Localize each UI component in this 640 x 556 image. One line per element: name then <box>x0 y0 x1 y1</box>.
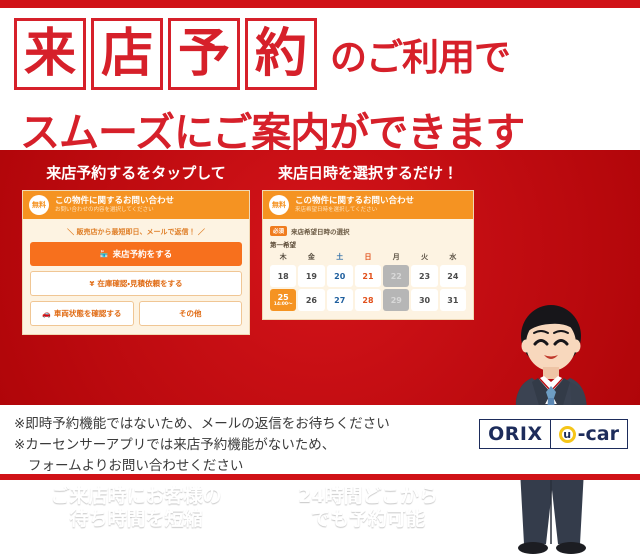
calendar-day-disabled: 29 <box>383 289 409 311</box>
calendar-day[interactable]: 23 <box>411 265 437 287</box>
bottom-red-rule <box>0 474 640 480</box>
calendar-day[interactable]: 20 <box>327 265 353 287</box>
calendar-day-selected-number: 25 <box>278 293 289 302</box>
left-panel: 来店予約するをタップして 無料 この物件に関するお問い合わせ お問い合わせの内容… <box>22 162 250 335</box>
top-red-rule <box>0 0 640 8</box>
left-mockup-header: 無料 この物件に関するお問い合わせ お問い合わせの内容を選択してください <box>23 191 249 219</box>
free-badge: 無料 <box>269 195 289 215</box>
calendar-section-label: 来店希望日時の選択 <box>291 226 350 236</box>
left-caption: ご来店時にお客様の 待ち時間を短縮 <box>10 485 262 531</box>
store-icon: 🏪 <box>100 250 109 258</box>
check-vehicle-condition-button[interactable]: 🚗 車両状態を確認する <box>30 301 134 326</box>
yen-icon: ¥ <box>90 280 95 288</box>
headline-boxed-char-2: 店 <box>91 18 163 90</box>
left-phone-mockup: 無料 この物件に関するお問い合わせ お問い合わせの内容を選択してください ＼ 販… <box>22 190 250 335</box>
headline-boxed-char-3: 予 <box>168 18 240 90</box>
calendar-day[interactable]: 30 <box>411 289 437 311</box>
left-mockup-header-title: この物件に関するお問い合わせ <box>55 196 174 207</box>
headline-row-1: 来 店 予 約 のご利用で <box>14 18 510 90</box>
other-button[interactable]: その他 <box>139 301 243 326</box>
day-header-thu: 木 <box>270 252 296 263</box>
calendar-day[interactable]: 27 <box>327 289 353 311</box>
right-mockup-header-subtitle: 来店希望日時を選択してください <box>295 207 414 214</box>
left-caption-line-1: ご来店時にお客様の <box>10 485 262 508</box>
right-mockup-header: 無料 この物件に関するお問い合わせ 来店希望日時を選択してください <box>263 191 473 219</box>
ucar-car-text: -car <box>578 423 619 445</box>
calendar-section-header: 必須 来店希望日時の選択 <box>270 226 466 236</box>
preference-label: 第一希望 <box>270 239 466 249</box>
footnote-line-2: ※カーセンサーアプリでは来店予約機能がないため、 <box>14 435 464 456</box>
right-mockup-header-text: この物件に関するお問い合わせ 来店希望日時を選択してください <box>295 196 414 214</box>
day-header-sun: 日 <box>355 252 381 263</box>
right-mockup-header-title: この物件に関するお問い合わせ <box>295 196 414 207</box>
headline-boxed-char-1: 来 <box>14 18 86 90</box>
other-button-label: その他 <box>179 308 202 319</box>
day-header-sat: 土 <box>327 252 353 263</box>
orix-brand-text: ORIX <box>488 423 550 445</box>
day-header-fri: 金 <box>298 252 324 263</box>
right-caption-line-2: でも予約可能 <box>262 508 474 531</box>
reserve-visit-button-label: 来店予約をする <box>113 248 173 260</box>
right-panel: 来店日時を選択するだけ！ 無料 この物件に関するお問い合わせ 来店希望日時を選択… <box>262 162 474 320</box>
left-mockup-header-text: この物件に関するお問い合わせ お問い合わせの内容を選択してください <box>55 196 174 214</box>
day-header-tue: 火 <box>411 252 437 263</box>
orix-ucar-logo: ORIX u -car <box>479 419 628 449</box>
stock-quote-button[interactable]: ¥ 在庫確認・見積依頼をする <box>30 271 242 296</box>
right-caption: 24時間どこから でも予約可能 <box>262 485 474 531</box>
car-icon: 🚗 <box>42 310 51 318</box>
headline-tail-text: のご利用で <box>330 27 510 81</box>
check-vehicle-condition-label: 車両状態を確認する <box>54 308 122 319</box>
right-mockup-body: 必須 来店希望日時の選択 第一希望 木 金 土 日 月 火 水 18 19 <box>263 219 473 319</box>
calendar-day[interactable]: 26 <box>298 289 324 311</box>
left-mockup-header-subtitle: お問い合わせの内容を選択してください <box>55 207 174 214</box>
calendar-day-selected[interactable]: 25 14:00〜 <box>270 289 296 311</box>
stock-quote-button-label: 在庫確認・見積依頼をする <box>97 278 182 289</box>
headline-section: 来 店 予 約 のご利用で スムーズにご案内ができます <box>0 8 640 150</box>
free-badge: 無料 <box>29 195 49 215</box>
left-mockup-lead-text: ＼ 販売店から最短即日、メールで返信！ ／ <box>30 227 242 237</box>
calendar-day[interactable]: 28 <box>355 289 381 311</box>
right-phone-mockup: 無料 この物件に関するお問い合わせ 来店希望日時を選択してください 必須 来店希… <box>262 190 474 320</box>
advertisement-banner: 来 店 予 約 のご利用で スムーズにご案内ができます 来店予約するをタップして… <box>0 0 640 480</box>
calendar-day[interactable]: 31 <box>440 289 466 311</box>
right-panel-title: 来店日時を選択するだけ！ <box>262 162 474 183</box>
reserve-visit-button[interactable]: 🏪 来店予約をする <box>30 242 242 266</box>
left-panel-title: 来店予約するをタップして <box>22 162 250 183</box>
calendar-day-disabled: 22 <box>383 265 409 287</box>
footer-section: ※即時予約機能ではないため、メールの返信をお待ちください ※カーセンサーアプリで… <box>0 405 640 480</box>
calendar-day[interactable]: 24 <box>440 265 466 287</box>
footnote-line-1: ※即時予約機能ではないため、メールの返信をお待ちください <box>14 414 464 435</box>
calendar-grid[interactable]: 木 金 土 日 月 火 水 18 19 20 21 22 23 24 <box>270 252 466 311</box>
calendar-day[interactable]: 18 <box>270 265 296 287</box>
headline-boxed-char-4: 約 <box>245 18 317 90</box>
left-mockup-body: ＼ 販売店から最短即日、メールで返信！ ／ 🏪 来店予約をする ¥ 在庫確認・見… <box>23 219 249 334</box>
ucar-logo-group: u -car <box>550 420 627 448</box>
left-mockup-button-row: 🚗 車両状態を確認する その他 <box>30 301 242 326</box>
left-caption-line-2: 待ち時間を短縮 <box>10 508 262 531</box>
day-header-wed: 水 <box>440 252 466 263</box>
calendar-day[interactable]: 21 <box>355 265 381 287</box>
day-header-mon: 月 <box>383 252 409 263</box>
footnotes: ※即時予約機能ではないため、メールの返信をお待ちください ※カーセンサーアプリで… <box>14 414 464 477</box>
required-tag: 必須 <box>270 226 287 236</box>
calendar-day[interactable]: 19 <box>298 265 324 287</box>
calendar-day-selected-time: 14:00〜 <box>274 303 293 308</box>
right-caption-line-1: 24時間どこから <box>262 485 474 508</box>
ucar-u-icon: u <box>559 426 576 443</box>
red-body-section: 来店予約するをタップして 無料 この物件に関するお問い合わせ お問い合わせの内容… <box>0 150 640 405</box>
